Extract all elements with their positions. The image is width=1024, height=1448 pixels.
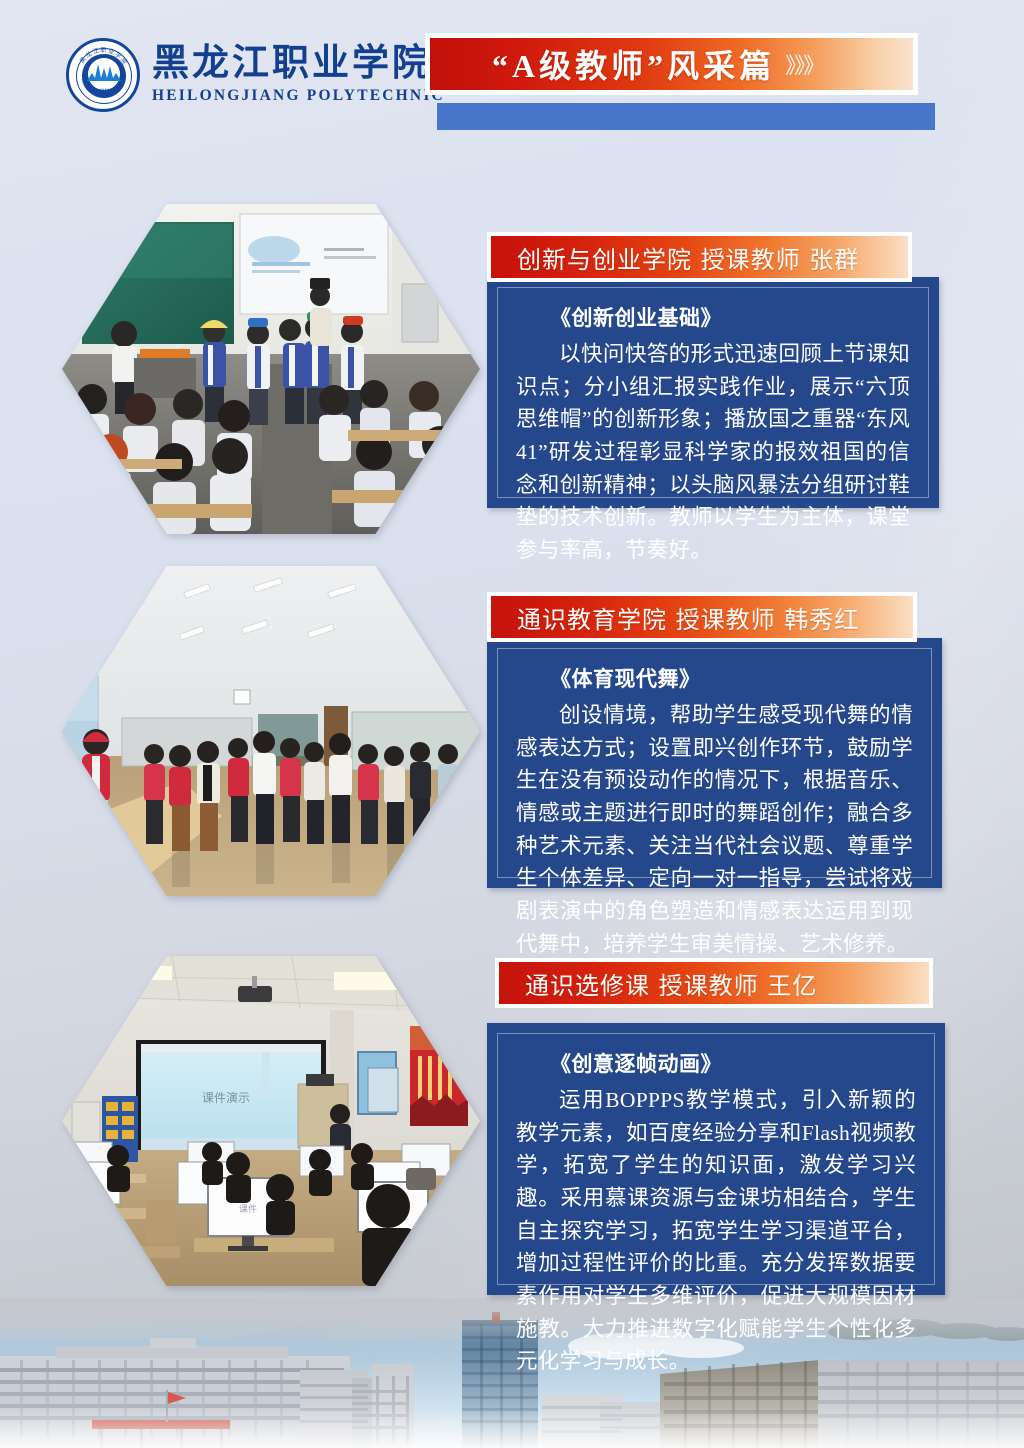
classroom-hats-presentation-photo xyxy=(62,204,480,534)
svg-text:课件演示: 课件演示 xyxy=(202,1090,250,1105)
course-card-header-2: 通识教育学院 授课教师 韩秀红 xyxy=(487,592,917,642)
course-header-text-3: 通识选修课 授课教师 王亿 xyxy=(525,966,817,1001)
chevrons-icon: 》》》 xyxy=(785,48,823,80)
course-description-3: 运用BOPPPS教学模式，引入新颖的教学元素，如百度经验分享和Flash视频教学… xyxy=(516,1084,916,1378)
banner-title: “A级教师”风采篇 xyxy=(492,41,775,87)
course-card-body-1: 《创新创业基础》 以快问快答的形式迅速回顾上节课知识点；分小组汇报实践作业，展示… xyxy=(487,277,939,508)
school-name-en: HEILONGJIANG POLYTECHNIC xyxy=(152,87,445,105)
course-title-3: 《创意逐帧动画》 xyxy=(550,1048,916,1078)
seal-emblem-icon: 1948 xyxy=(82,54,126,98)
page-header: 黑龙江职业学院 HEILONGJIANG POLYTECHNIC 1948 xyxy=(0,0,1024,148)
course-description-2: 创设情境，帮助学生感受现代舞的情感表达方式；设置即兴创作环节，鼓励学生在没有预设… xyxy=(516,699,913,960)
dance-studio-rehearsal-photo xyxy=(62,566,480,896)
school-logo: 黑龙江职业学院 HEILONGJIANG POLYTECHNIC 1948 xyxy=(66,38,445,112)
school-seal-icon: 黑龙江职业学院 HEILONGJIANG POLYTECHNIC 1948 xyxy=(66,38,140,112)
section-banner: “A级教师”风采篇 》》》 xyxy=(425,33,918,95)
school-name-cn: 黑龙江职业学院 xyxy=(152,45,445,84)
course-card-header-3: 通识选修课 授课教师 王亿 xyxy=(495,958,933,1008)
banner-blue-underlay xyxy=(437,103,935,130)
course-card-header-1: 创新与创业学院 授课教师 张群 xyxy=(487,232,912,282)
course-card-body-2: 《体育现代舞》 创设情境，帮助学生感受现代舞的情感表达方式；设置即兴创作环节，鼓… xyxy=(487,638,942,888)
computer-lab-lecture-photo: 课件演示 xyxy=(62,956,480,1286)
course-title-2: 《体育现代舞》 xyxy=(550,663,913,693)
course-description-1: 以快问快答的形式迅速回顾上节课知识点；分小组汇报实践作业，展示“六顶思维帽”的创… xyxy=(516,338,910,567)
course-title-1: 《创新创业基础》 xyxy=(550,302,910,332)
poster-page: 黑龙江职业学院 HEILONGJIANG POLYTECHNIC 1948 xyxy=(0,0,1024,1448)
course-header-text-1: 创新与创业学院 授课教师 张群 xyxy=(517,240,859,275)
svg-text:课件: 课件 xyxy=(239,1203,257,1215)
course-card-body-3: 《创意逐帧动画》 运用BOPPPS教学模式，引入新颖的教学元素，如百度经验分享和… xyxy=(487,1023,945,1295)
course-header-text-2: 通识教育学院 授课教师 韩秀红 xyxy=(517,600,859,635)
svg-text:1948: 1948 xyxy=(99,89,110,94)
